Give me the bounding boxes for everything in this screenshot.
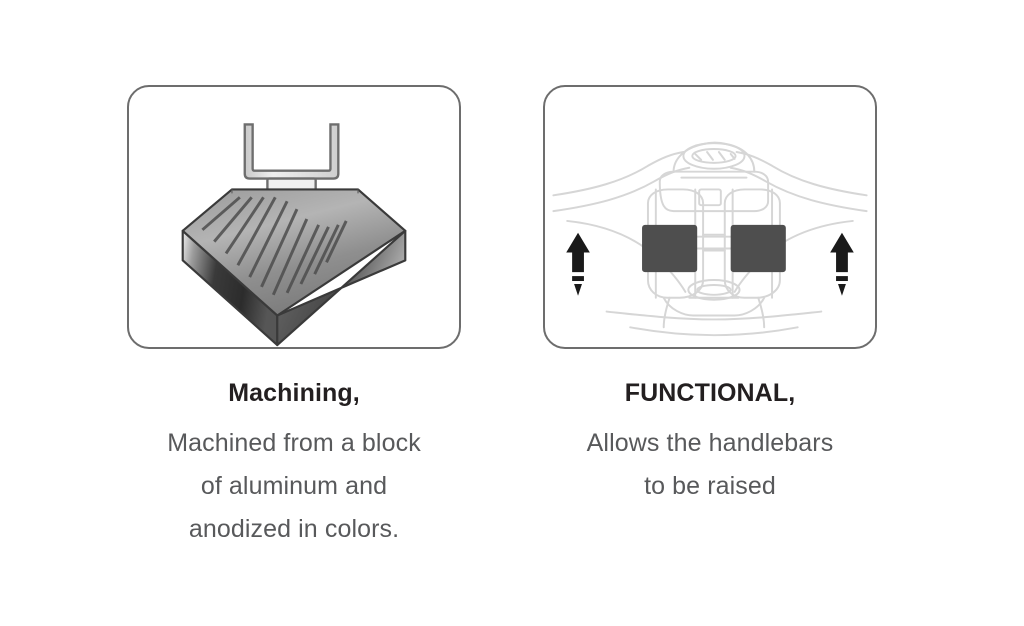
handlebar-line-art <box>553 143 866 336</box>
machining-caption: Machining, Machined from a block of alum… <box>127 349 461 551</box>
machining-body: Machined from a block of aluminum and an… <box>127 422 461 551</box>
feature-highlights-page: Machining, Machined from a block of alum… <box>0 0 1024 626</box>
spindle-holder <box>245 124 339 178</box>
machining-title: Machining, <box>127 379 461 408</box>
machining-body-line-2: of aluminum and <box>127 465 461 508</box>
feature-functional: FUNCTIONAL, Allows the handlebars to be … <box>543 85 877 508</box>
riser-clamp-right <box>731 225 786 272</box>
cnc-milling-machine-icon <box>129 87 459 347</box>
machining-body-line-3: anodized in colors. <box>127 508 461 551</box>
feature-cards-row: Machining, Machined from a block of alum… <box>0 0 1024 626</box>
arrow-up-right-icon <box>830 233 854 296</box>
machining-icon-card <box>127 85 461 349</box>
handlebar-riser-icon <box>545 87 875 347</box>
functional-title: FUNCTIONAL, <box>543 379 877 408</box>
functional-body: Allows the handlebars to be raised <box>543 422 877 508</box>
riser-clamp-left <box>642 225 697 272</box>
functional-caption: FUNCTIONAL, Allows the handlebars to be … <box>543 349 877 508</box>
functional-body-line-1: Allows the handlebars <box>543 422 877 465</box>
arrow-up-left-icon <box>566 233 590 296</box>
feature-machining: Machining, Machined from a block of alum… <box>127 85 461 551</box>
functional-body-line-2: to be raised <box>543 465 877 508</box>
functional-icon-card <box>543 85 877 349</box>
machining-body-line-1: Machined from a block <box>127 422 461 465</box>
